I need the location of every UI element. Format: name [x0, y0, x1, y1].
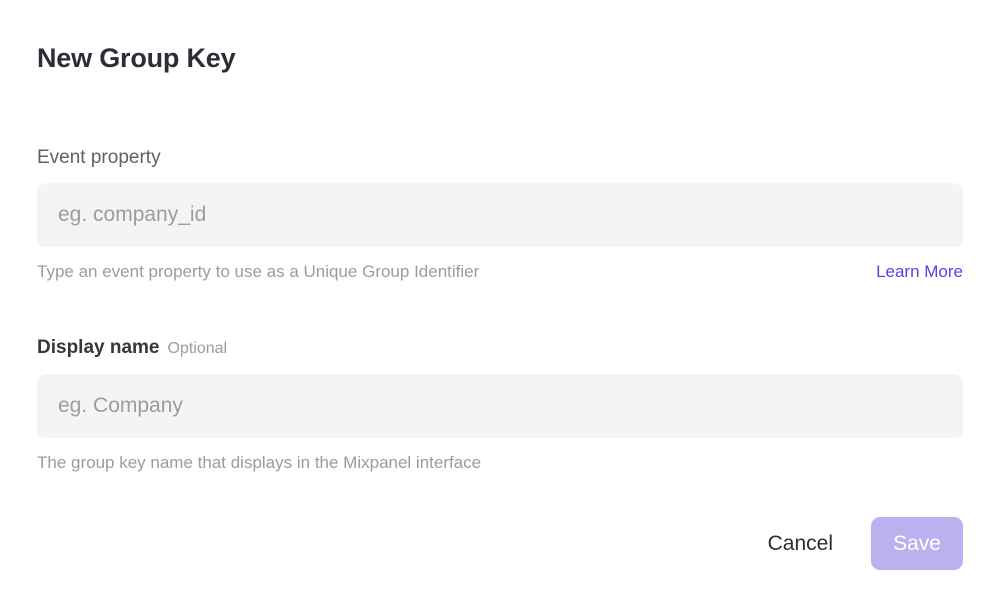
page-title: New Group Key: [37, 41, 235, 75]
event-property-label: Event property: [37, 146, 963, 170]
event-property-label-text: Event property: [37, 146, 161, 170]
display-name-helper-row: The group key name that displays in the …: [37, 452, 963, 474]
dialog-footer: Cancel Save: [37, 517, 963, 570]
save-button[interactable]: Save: [871, 517, 963, 570]
cancel-button[interactable]: Cancel: [768, 517, 833, 570]
event-property-field-group: Event property Type an event property to…: [37, 146, 963, 283]
display-name-label-text: Display name: [37, 336, 160, 360]
display-name-input[interactable]: [37, 374, 963, 438]
event-property-helper-text: Type an event property to use as a Uniqu…: [37, 261, 479, 283]
event-property-input[interactable]: [37, 183, 963, 247]
display-name-label: Display name Optional: [37, 336, 963, 361]
display-name-optional-tag: Optional: [168, 337, 228, 361]
new-group-key-dialog: New Group Key Event property Type an eve…: [0, 0, 1000, 608]
event-property-helper-row: Type an event property to use as a Uniqu…: [37, 261, 963, 283]
display-name-helper-text: The group key name that displays in the …: [37, 452, 481, 474]
display-name-field-group: Display name Optional The group key name…: [37, 336, 963, 474]
learn-more-link[interactable]: Learn More: [876, 261, 963, 283]
